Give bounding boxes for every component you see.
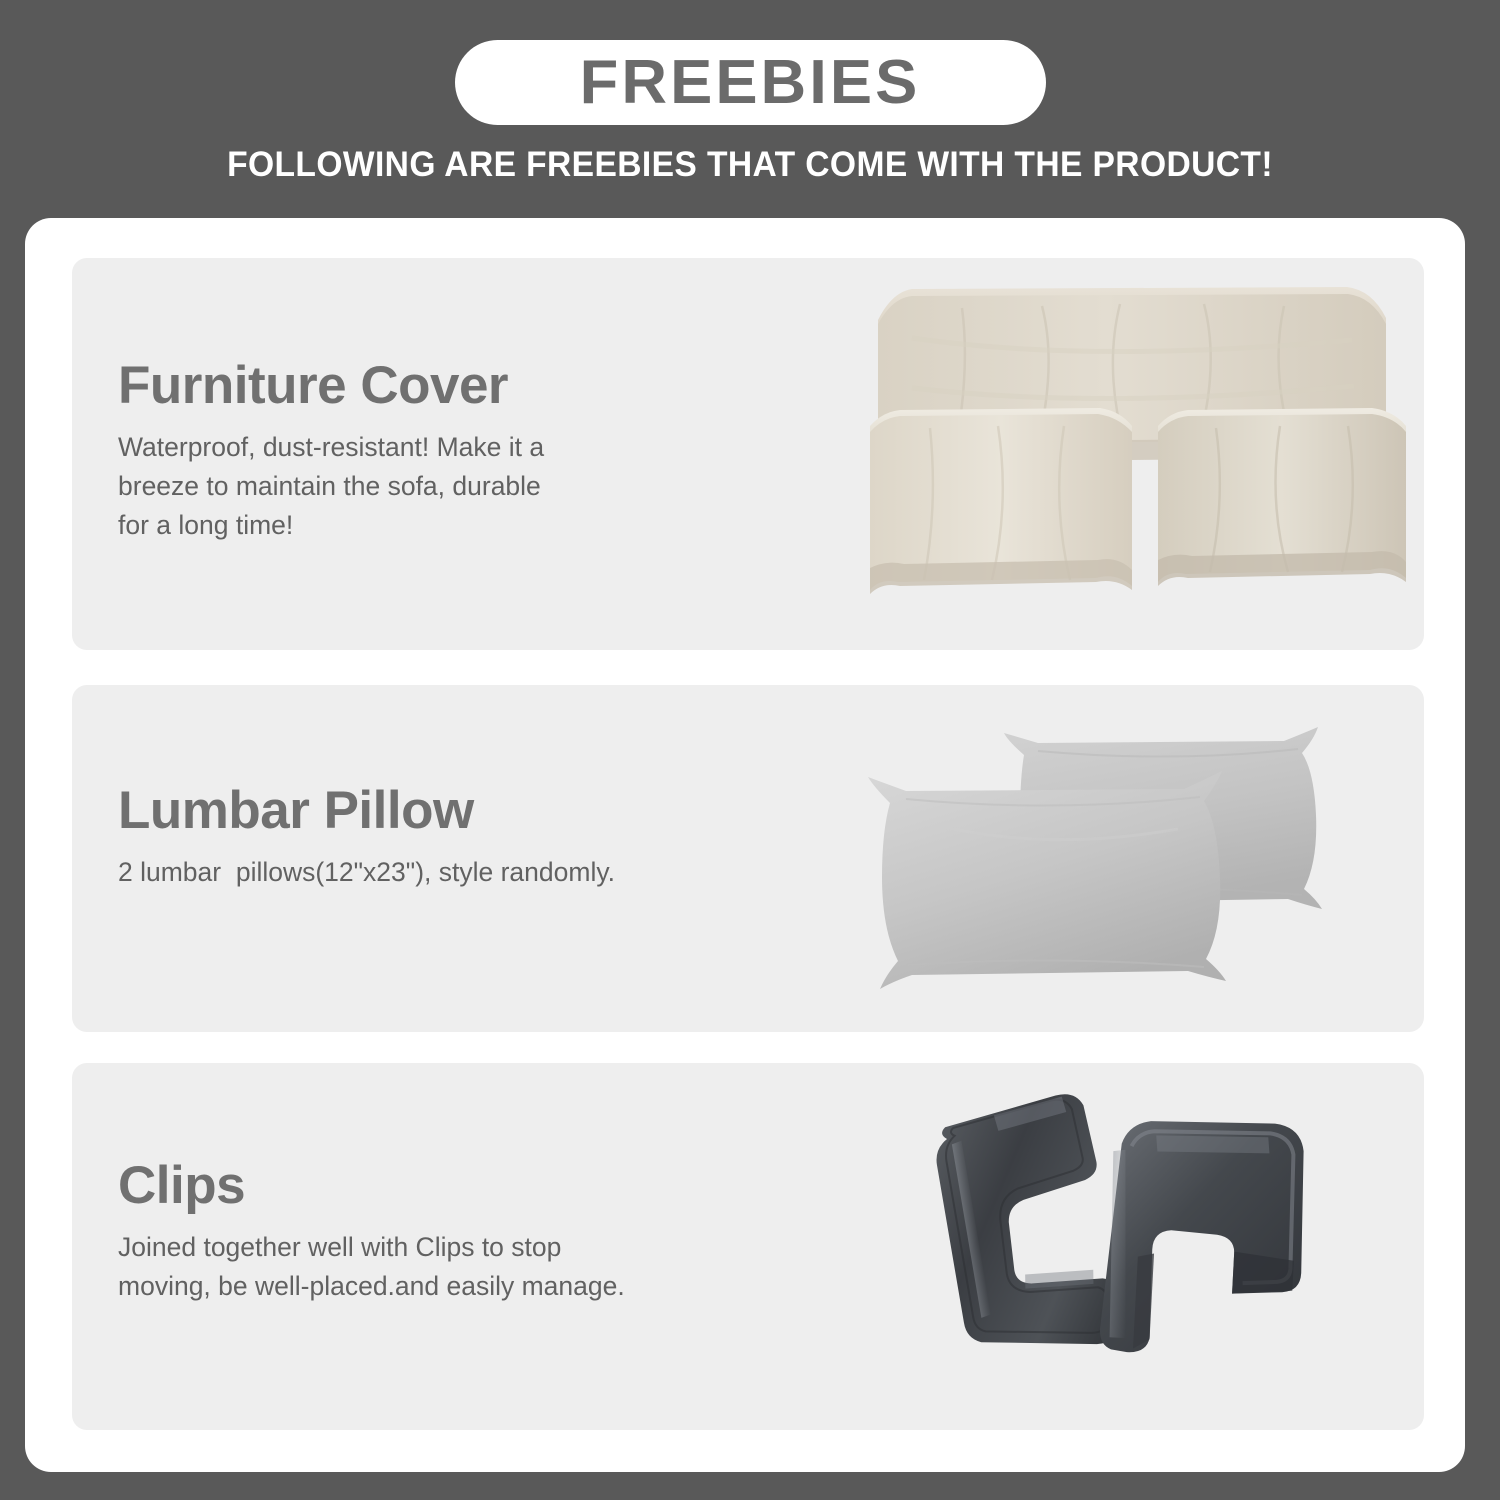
card-description: Waterproof, dust-resistant! Make it a br… — [118, 428, 738, 546]
lumbar-pillow-photo — [832, 693, 1412, 1023]
freebies-badge: FREEBIES — [455, 40, 1046, 125]
freebie-card-clips: Clips Joined together well with Clips to… — [72, 1063, 1424, 1430]
freebie-card-furniture-cover: Furniture Cover Waterproof, dust-resista… — [72, 258, 1424, 650]
card-description: Joined together well with Clips to stop … — [118, 1228, 738, 1306]
card-text-block: Clips Joined together well with Clips to… — [118, 1158, 738, 1306]
content-panel: Furniture Cover Waterproof, dust-resista… — [25, 218, 1465, 1472]
card-title: Lumbar Pillow — [118, 783, 738, 839]
card-text-block: Lumbar Pillow 2 lumbar pillows(12"x23"),… — [118, 783, 738, 892]
card-title: Furniture Cover — [118, 358, 738, 414]
card-description: 2 lumbar pillows(12"x23"), style randoml… — [118, 853, 738, 892]
card-text-block: Furniture Cover Waterproof, dust-resista… — [118, 358, 738, 545]
card-title: Clips — [118, 1158, 738, 1214]
clips-photo — [902, 1081, 1382, 1411]
freebie-card-lumbar-pillow: Lumbar Pillow 2 lumbar pillows(12"x23"),… — [72, 685, 1424, 1032]
page-subtitle: FOLLOWING ARE FREEBIES THAT COME WITH TH… — [30, 145, 1470, 185]
badge-label: FREEBIES — [580, 52, 921, 114]
furniture-cover-photo — [852, 268, 1412, 638]
